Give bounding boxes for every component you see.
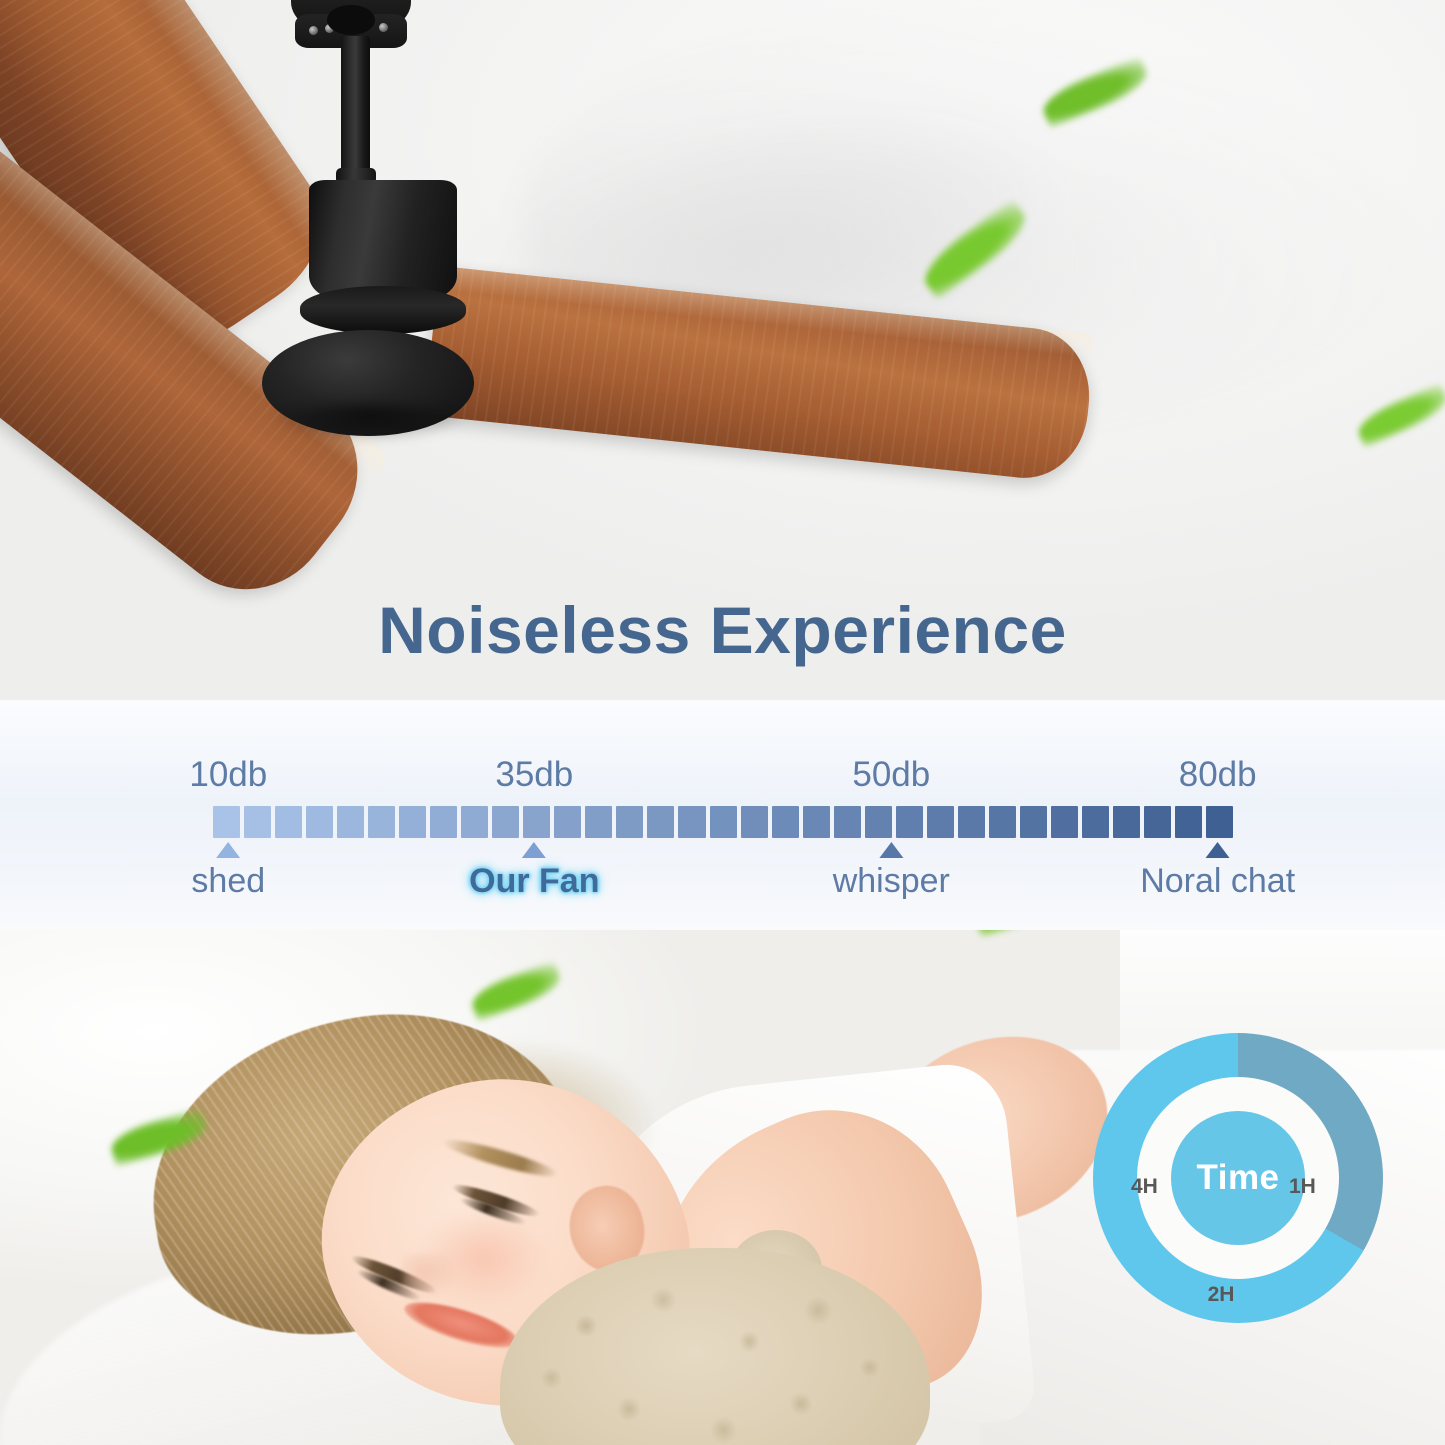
noise-scale-segment [585,806,612,838]
noise-scale-segment [989,806,1016,838]
page-title-wrap: Noiseless Experience [0,592,1445,668]
noise-scale-segment [1051,806,1078,838]
timer-label-4h: 4H [1131,1175,1158,1199]
noise-scale-segment [896,806,923,838]
leaf-icon [1353,382,1445,448]
fan-canopy-hub [327,5,375,35]
noise-scale-segment [399,806,426,838]
noise-marker-shed: shed [191,842,265,901]
noise-tick-label: 10db [189,755,267,795]
noise-scale-segment [1020,806,1047,838]
noise-scale-segment [368,806,395,838]
noise-scale-segment [803,806,830,838]
timer-donut-chart: Time 1H 2H 4H [1093,1033,1383,1323]
noise-marker-whisper: whisper [833,842,950,901]
noise-marker-noral-chat: Noral chat [1140,842,1295,901]
noise-scale-segment [492,806,519,838]
fan-downrod [341,36,370,178]
triangle-up-icon [522,842,546,858]
timer-center-label: Time [1196,1158,1279,1198]
noise-scale-segment [772,806,799,838]
noise-scale-segment [306,806,333,838]
noise-marker-label: shed [191,862,265,901]
noise-scale-segment [337,806,364,838]
noise-scale-segment [1175,806,1202,838]
noise-scale-segment [927,806,954,838]
noise-scale-segment [1113,806,1140,838]
noise-scale-segment [461,806,488,838]
timer-label-2h: 2H [1208,1283,1235,1307]
noise-scale-segment [834,806,861,838]
noise-scale-segment [741,806,768,838]
noise-marker-label: Our Fan [469,862,599,901]
noise-marker-our-fan: Our Fan [469,842,599,901]
timer-center-circle: Time [1171,1111,1305,1245]
noise-scale-bar-row [213,806,1233,838]
triangle-up-icon [216,842,240,858]
noise-scale-segment [710,806,737,838]
noise-scale-segment [1082,806,1109,838]
noise-scale-segment [865,806,892,838]
noise-scale-segment [523,806,550,838]
fan-hub-shadow [268,404,468,442]
child-nose [402,1254,458,1300]
fan-motor-housing [309,180,457,302]
noise-scale-segment [678,806,705,838]
noise-scale-section: 10db35db50db80db shedOur FanwhisperNoral… [0,700,1445,945]
page-title: Noiseless Experience [0,592,1445,668]
noise-marker-label: whisper [833,862,950,901]
noise-scale-segment [244,806,271,838]
noise-scale-segment [647,806,674,838]
noise-scale-segment [275,806,302,838]
infographic-page: Noiseless Experience 10db35db50db80db sh… [0,0,1445,1445]
noise-scale-chart: 10db35db50db80db shedOur FanwhisperNoral… [0,700,1445,945]
fan-motor-lip [300,286,466,334]
noise-scale-segment [430,806,457,838]
noise-tick-label: 35db [495,755,573,795]
noise-scale-segment [1144,806,1171,838]
noise-scale-segment [554,806,581,838]
noise-tick-label: 80db [1179,755,1257,795]
triangle-up-icon [1206,842,1230,858]
noise-scale-segment [1206,806,1233,838]
triangle-up-icon [879,842,903,858]
noise-scale-segment [616,806,643,838]
noise-tick-label: 50db [852,755,930,795]
timer-label-1h: 1H [1289,1175,1316,1199]
noise-marker-label: Noral chat [1140,862,1295,901]
noise-scale-segment [958,806,985,838]
noise-scale-segment [213,806,240,838]
